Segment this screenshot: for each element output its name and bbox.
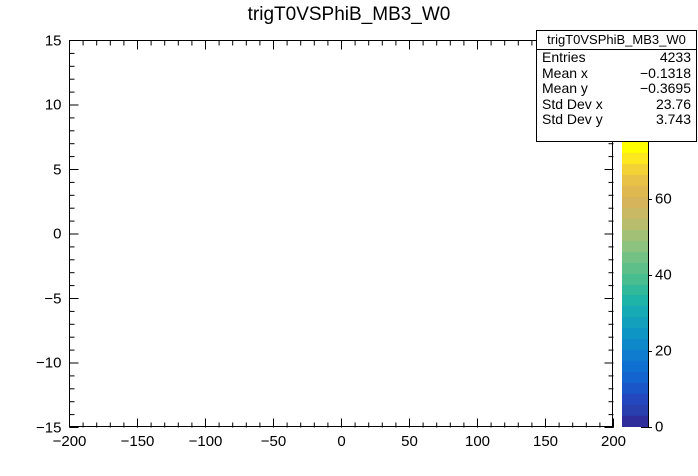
y-tick-label: −10 (36, 355, 61, 372)
y-tick-label: −15 (36, 419, 61, 436)
z-tick-label: 0 (655, 419, 663, 436)
page-title: trigT0VSPhiB_MB3_W0 (0, 4, 698, 26)
y-tick-label: 15 (45, 32, 62, 49)
x-tick-label: 0 (337, 433, 345, 450)
stats-key: Std Dev y (542, 112, 603, 128)
x-tick-label: 150 (533, 433, 558, 450)
z-tick-label: 40 (655, 267, 672, 284)
stats-value: 4233 (660, 50, 691, 66)
y-tick-label: 5 (53, 161, 61, 178)
x-tick-label: 100 (465, 433, 490, 450)
stats-key: Mean y (542, 81, 588, 97)
stats-key: Mean x (542, 66, 588, 82)
y-tick-label: 10 (45, 97, 62, 114)
root-canvas: trigT0VSPhiB_MB3_W0 trigT0VSPhiB_MB3_W0 … (0, 0, 698, 476)
y-tick-label: 0 (53, 226, 61, 243)
z-tick-label: 60 (655, 191, 672, 208)
stats-row: Entries4233 (537, 50, 696, 66)
x-tick-label: −100 (189, 433, 223, 450)
stats-value: −0.3695 (640, 81, 691, 97)
x-tick-label: −50 (261, 433, 286, 450)
x-tick-label: 200 (601, 433, 626, 450)
stats-value: 23.76 (656, 97, 691, 113)
palette-frame (622, 142, 648, 427)
stats-rows: Entries4233Mean x−0.1318Mean y−0.3695Std… (537, 50, 696, 128)
stats-title: trigT0VSPhiB_MB3_W0 (537, 31, 696, 50)
x-tick-label: −150 (121, 433, 155, 450)
plot-frame (69, 40, 613, 427)
stats-row: Std Dev y3.743 (537, 112, 696, 128)
x-tick-label: 50 (401, 433, 418, 450)
y-tick-label: −5 (44, 290, 61, 307)
stats-row: Mean x−0.1318 (537, 66, 696, 82)
z-tick-label: 20 (655, 343, 672, 360)
stats-box[interactable]: trigT0VSPhiB_MB3_W0 Entries4233Mean x−0.… (536, 30, 697, 142)
stats-key: Std Dev x (542, 97, 603, 113)
stats-row: Std Dev x23.76 (537, 97, 696, 113)
stats-row: Mean y−0.3695 (537, 81, 696, 97)
stats-key: Entries (542, 50, 586, 66)
stats-value: −0.1318 (640, 66, 691, 82)
stats-value: 3.743 (656, 112, 691, 128)
